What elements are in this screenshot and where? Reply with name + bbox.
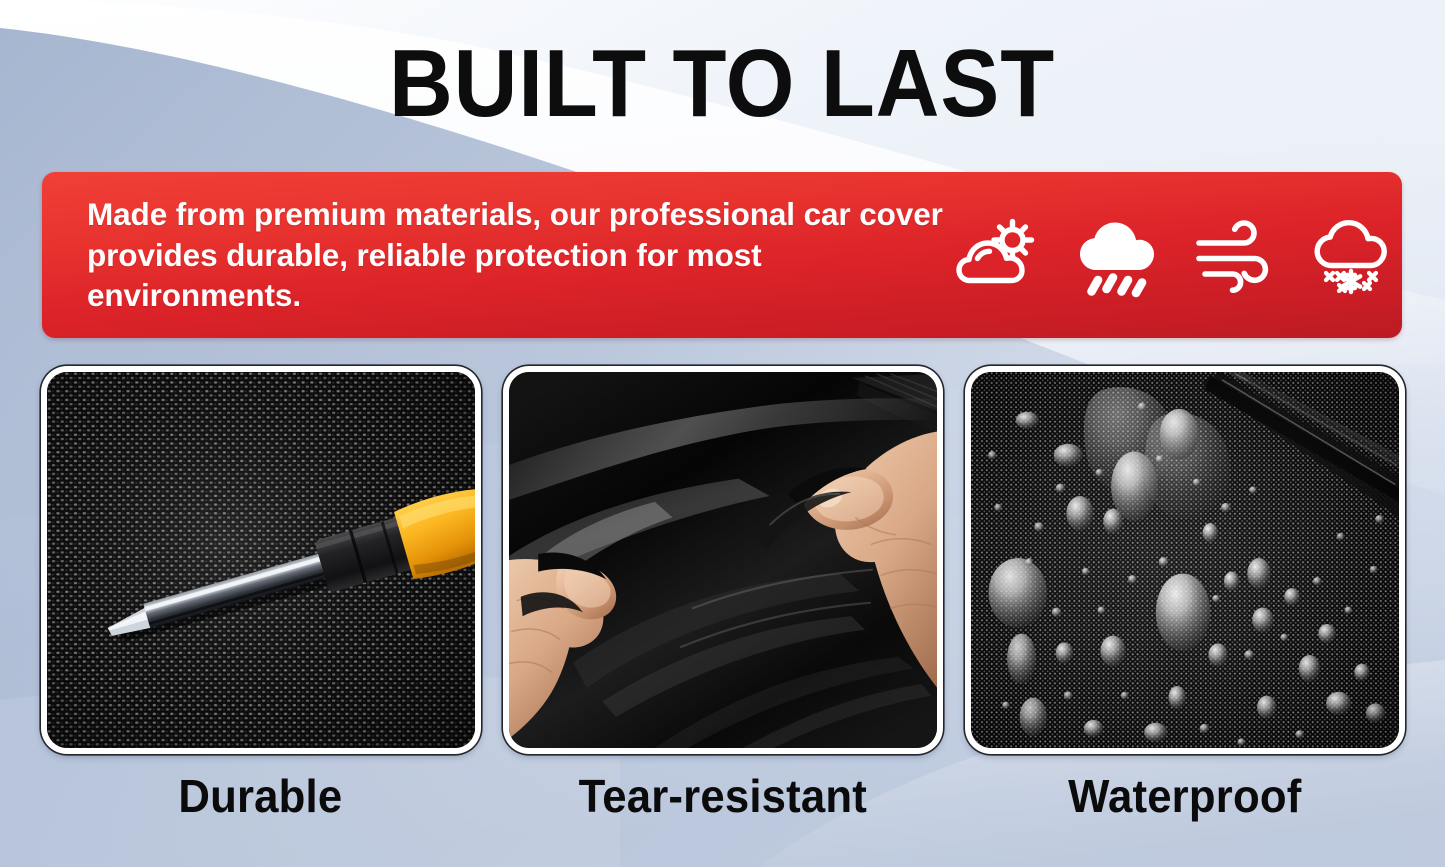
feature-caption-row: Durable Tear-resistant Waterproof: [0, 762, 1445, 830]
feature-banner: Made from premium materials, our profess…: [42, 172, 1402, 338]
title-container: BUILT TO LAST: [0, 24, 1445, 144]
banner-description: Made from premium materials, our profess…: [42, 194, 947, 317]
weather-icon-group: [947, 212, 1393, 298]
feature-panel-row: [0, 366, 1445, 758]
water-droplets-on-fabric-photo: [971, 372, 1399, 748]
feature-panel-durable[interactable]: [41, 366, 481, 754]
feature-panel-tear-resistant[interactable]: [503, 366, 943, 754]
caption-cell-waterproof: Waterproof: [965, 762, 1405, 830]
screwdriver-on-woven-fabric-photo: [47, 372, 475, 748]
caption-cell-tear-resistant: Tear-resistant: [503, 762, 943, 830]
wind-icon: [1191, 212, 1275, 298]
sun-cloud-icon: [955, 212, 1039, 298]
feature-label-durable: Durable: [178, 769, 342, 823]
feature-panel-waterproof[interactable]: [965, 366, 1405, 754]
caption-cell-durable: Durable: [41, 762, 481, 830]
feature-label-tear-resistant: Tear-resistant: [578, 769, 866, 823]
page-title: BUILT TO LAST: [389, 36, 1055, 132]
hands-stretching-fabric-photo: [509, 372, 937, 748]
feature-label-waterproof: Waterproof: [1068, 769, 1301, 823]
rain-cloud-icon: [1073, 212, 1157, 298]
snow-cloud-icon: [1309, 212, 1393, 298]
